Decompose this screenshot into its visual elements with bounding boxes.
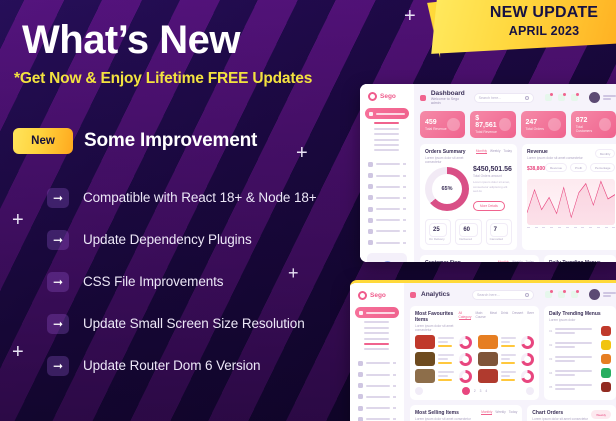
stat-value: $ 87,561 (475, 115, 499, 129)
chart-icon (358, 372, 363, 377)
food-thumbnail (415, 369, 435, 383)
list-item: ➞ Compatible with React 18+ & Node 18+ (47, 182, 357, 213)
subnav-item[interactable] (364, 332, 389, 334)
food-thumbnail (415, 335, 435, 349)
sidebar-item-plugins[interactable] (365, 192, 409, 203)
box-icon (548, 118, 561, 131)
category-main-course[interactable]: Main Course (475, 311, 485, 320)
tab-today[interactable]: Today (509, 410, 518, 415)
tab-monthly[interactable]: Monthly (481, 410, 492, 415)
mail-icon[interactable] (558, 291, 565, 298)
bell-icon[interactable] (545, 94, 552, 101)
card-subtitle: Lorem ipsum dolor sit amet consectetur (415, 324, 459, 332)
table-icon (368, 229, 373, 234)
revenue-x-axis (527, 227, 615, 228)
avatar-image (589, 289, 600, 300)
legend-percentage[interactable]: Percentage (590, 163, 615, 172)
tab-weekly[interactable]: Weekly (495, 410, 505, 415)
cart-icon (447, 118, 460, 131)
search-placeholder: Search here... (479, 96, 502, 100)
revenue-line-chart (527, 179, 615, 225)
page-subtitle: Welcome to Sego admin (431, 97, 469, 105)
list-item[interactable]: 05 (549, 382, 611, 392)
mini-stat-value: 60 (459, 223, 477, 237)
food-item[interactable] (478, 352, 535, 366)
arrow-right-icon: ➞ (47, 314, 69, 334)
search-icon (525, 293, 529, 297)
plugin-icon (368, 195, 373, 200)
sidebar-item-label (366, 312, 395, 314)
list-item[interactable]: 04 (549, 368, 611, 378)
sidebar-promo-card (367, 253, 407, 262)
mail-icon[interactable] (558, 94, 565, 101)
category-all[interactable]: All Category (459, 311, 472, 320)
sidebar-item-forms[interactable] (365, 215, 409, 226)
chevron-right-icon (393, 362, 396, 364)
dollar-icon (499, 118, 510, 131)
sidebar-item-pages[interactable] (365, 237, 409, 248)
stat-card: 247 Total Orders (521, 111, 566, 138)
list-item-label: CSS File Improvements (83, 274, 223, 289)
revenue-legend: Revenue Profit Percentage (545, 163, 615, 172)
food-item[interactable] (415, 369, 472, 383)
avatar[interactable] (589, 289, 616, 300)
dashboard-screenshot-preview: Sego (360, 84, 616, 262)
sidebar-item-charts[interactable] (365, 170, 409, 181)
food-thumbnail (478, 352, 498, 366)
bootstrap-icon (358, 383, 363, 388)
revenue-chart-svg (527, 179, 615, 225)
dashboard-icon (369, 112, 373, 116)
food-thumbnail (415, 352, 435, 366)
subnav-item[interactable] (374, 149, 399, 151)
dashboard-topbar: Dashboard Welcome to Sego admin Search h… (420, 90, 616, 105)
subnav-item[interactable] (374, 122, 399, 124)
bootstrap-icon (368, 184, 373, 189)
chevron-right-icon (403, 230, 406, 232)
notification-group (545, 94, 578, 101)
card-title: Daily Trending Menus (549, 311, 611, 317)
orders-summary-card: Orders Summary Lorem ipsum dolor sit ame… (420, 144, 517, 250)
progress-ring (459, 336, 472, 349)
item-rank: 05 (549, 385, 552, 389)
arrow-right-icon: ➞ (47, 188, 69, 208)
page-title: Analytics (421, 291, 450, 298)
card-title: Revenue (527, 149, 583, 155)
item-thumbnail (601, 326, 611, 336)
avatar[interactable] (589, 92, 616, 103)
orders-amount-label: Total Orders amount (473, 174, 512, 178)
new-badge: New (13, 128, 73, 154)
food-item[interactable] (478, 335, 535, 349)
chevron-right-icon (393, 396, 396, 398)
favourite-items-card: Most Favourites Items Lorem ipsum dolor … (410, 306, 539, 400)
chevron-right-icon (403, 163, 406, 165)
sidebar-item-bootstrap[interactable] (355, 380, 399, 391)
stat-value: 247 (526, 119, 544, 126)
bell-icon[interactable] (545, 291, 552, 298)
sidebar-item-bootstrap[interactable] (365, 181, 409, 192)
category-beer[interactable]: Beer (527, 311, 534, 320)
page-icon (420, 95, 426, 101)
mini-stat-label: Cancelled (490, 237, 508, 241)
progress-ring (521, 353, 534, 366)
subnav-item[interactable] (374, 139, 399, 141)
chevron-right-icon (393, 374, 396, 376)
chart-orders-dropdown[interactable]: Weekly (591, 410, 611, 419)
cart-icon[interactable] (571, 94, 578, 101)
dashboard-icon (359, 311, 363, 315)
tab-today[interactable]: Today (525, 260, 534, 262)
sidebar-item-dashboard[interactable] (355, 307, 399, 318)
chart-orders-card: Chart Orders Lorem ipsum dolor sit amet … (527, 405, 616, 421)
trending-menus-card: Daily Trending Menus Lorem ipsum dolor 0… (544, 255, 616, 262)
progress-ring (459, 370, 472, 383)
more-details-button[interactable]: More Details (473, 201, 505, 211)
subnav-item[interactable] (374, 144, 399, 146)
banner-date: APRIL 2023 (464, 24, 616, 38)
stat-label: Total Customers (576, 125, 599, 133)
logo-icon (358, 291, 367, 300)
subnav-item[interactable] (364, 321, 389, 323)
arrow-right-icon: ➞ (47, 356, 69, 376)
orders-amount-note: Lorem ipsum dolor sit amet, consectetur … (473, 180, 512, 194)
item-rank: 03 (549, 357, 552, 361)
pagination-page-2[interactable]: 2 (474, 389, 476, 393)
sidebar-item-dashboard[interactable] (365, 108, 409, 119)
stat-label: Total Revenue (475, 130, 499, 134)
list-item: ➞ Update Small Screen Size Resolution (47, 308, 357, 339)
card-title: Chart Orders (532, 410, 588, 416)
chevron-right-icon (403, 186, 406, 188)
tab-today[interactable]: Today (503, 149, 512, 154)
user-icon (599, 118, 611, 131)
subnav-item[interactable] (364, 338, 389, 340)
sidebar-item-label (376, 113, 405, 115)
stat-card: 459 Total Revenue (420, 111, 465, 138)
item-rank: 01 (549, 329, 552, 333)
chevron-right-icon (403, 197, 406, 199)
widget-icon (358, 406, 363, 411)
orders-mini-stats: 25On Delivery 60Delivered 7Cancelled (425, 219, 512, 245)
customer-stop-card: Customer Stop Lorem ipsum dolor sit amet… (420, 255, 539, 262)
subnav-item[interactable] (374, 133, 399, 135)
form-icon (358, 417, 363, 421)
category-filter-group: All Category Main Course Meat Drink Dess… (459, 311, 534, 320)
category-dessert[interactable]: Dessert (512, 311, 523, 320)
list-item: ➞ CSS File Improvements (47, 266, 357, 297)
mini-stat: 25On Delivery (425, 219, 451, 245)
card-subtitle: Lorem ipsum dolor sit amet consectetur (532, 417, 588, 421)
card-title: Daily Trending Menus (549, 260, 611, 262)
card-title: Most Favourites Items (415, 311, 459, 323)
card-title: Customer Stop (425, 260, 481, 262)
promo-illustration-icon (382, 261, 393, 262)
stat-value: 459 (425, 119, 447, 126)
widget-icon (368, 207, 373, 212)
list-item: ➞ Update Dependency Plugins (47, 224, 357, 255)
pages-icon (368, 240, 373, 245)
search-icon (525, 96, 529, 100)
pagination-page-4[interactable]: 4 (485, 389, 487, 393)
card-title: Orders Summary (425, 149, 476, 155)
pagination-page-1[interactable] (462, 387, 470, 395)
promo-banner-page: + + + + + NEW UPDATE APRIL 2023 What’s N… (0, 0, 616, 421)
card-subtitle: Lorem ipsum dolor (549, 318, 611, 322)
stat-label: Total Orders (526, 127, 544, 131)
analytics-topbar: Analytics Search here... (410, 289, 616, 300)
plus-decoration-icon: + (404, 6, 416, 26)
item-thumbnail (601, 382, 611, 392)
sidebar-item-plugins[interactable] (355, 391, 399, 402)
page-subtitle: *Get Now & Enjoy Lifetime FREE Updates (14, 70, 312, 88)
item-rank: 02 (549, 343, 552, 347)
dashboard-panels: Orders Summary Lorem ipsum dolor sit ame… (420, 144, 616, 250)
food-thumbnail (478, 369, 498, 383)
banner-text-group: NEW UPDATE APRIL 2023 (464, 4, 616, 38)
tab-monthly[interactable]: Monthly (498, 260, 509, 262)
plugin-icon (358, 394, 363, 399)
food-item[interactable] (415, 352, 472, 366)
brand-logo: Sego (368, 92, 409, 101)
card-subtitle: Lorem ipsum dolor sit amet consectetur (425, 156, 476, 164)
list-item-label: Update Router Dom 6 Version (83, 358, 260, 373)
food-item[interactable] (415, 335, 472, 349)
tab-monthly[interactable]: Monthly (476, 149, 487, 154)
analytics-main: Analytics Search here... (404, 283, 616, 421)
arrow-right-icon: ➞ (47, 230, 69, 250)
item-rank: 04 (549, 371, 552, 375)
search-placeholder: Search here... (477, 293, 500, 297)
mini-stat-label: On Delivery (429, 237, 447, 241)
brand-name: Sego (370, 292, 386, 299)
list-item[interactable]: 01 (549, 326, 611, 336)
food-grid (415, 332, 534, 383)
search-input[interactable]: Search here... (474, 93, 534, 103)
list-item[interactable]: 02 (549, 340, 611, 350)
sidebar-subnav (355, 321, 399, 357)
page-icon (410, 292, 416, 298)
mini-stat: 7Cancelled (486, 219, 512, 245)
notification-group (545, 291, 578, 298)
mini-stat-value: 7 (490, 223, 508, 237)
stat-card: 872 Total Customers (571, 111, 616, 138)
sidebar-item-widget[interactable] (355, 402, 399, 413)
brand-name: Sego (380, 93, 396, 100)
orders-tabs: Monthly Weekly Today (476, 149, 512, 154)
banner-title: NEW UPDATE (464, 4, 616, 22)
feature-list: ➞ Compatible with React 18+ & Node 18+ ➞… (47, 182, 357, 392)
selling-tabs: Monthly Weekly Today (481, 410, 517, 415)
sidebar-item-forms[interactable] (355, 414, 399, 421)
subnav-item[interactable] (364, 327, 389, 329)
stat-card-group: 459 Total Revenue $ 87,561 Total Revenue… (420, 111, 616, 138)
revenue-card: Revenue Lorem ipsum dolor sit amet conse… (522, 144, 616, 250)
sidebar-item-widget[interactable] (365, 203, 409, 214)
logo-icon (368, 92, 377, 101)
stat-value: 872 (576, 117, 599, 124)
list-item-label: Update Small Screen Size Resolution (83, 316, 305, 331)
item-thumbnail (601, 354, 611, 364)
mini-stat-value: 25 (429, 223, 447, 237)
most-selling-card: Most Selling Items Lorem ipsum dolor sit… (410, 405, 522, 421)
form-icon (368, 218, 373, 223)
progress-ring (521, 336, 534, 349)
stat-label: Total Revenue (425, 127, 447, 131)
food-item[interactable] (478, 369, 535, 383)
chevron-right-icon (403, 175, 406, 177)
mini-stat-label: Delivered (459, 237, 477, 241)
card-subtitle: Lorem ipsum dolor sit amet consectetur (415, 417, 471, 421)
sidebar-subnav (365, 122, 409, 158)
list-item-label: Update Dependency Plugins (83, 232, 252, 247)
revenue-dropdown[interactable]: Monthly (595, 149, 616, 158)
legend-revenue[interactable]: Revenue (545, 163, 567, 172)
sidebar-item-charts[interactable] (355, 369, 399, 380)
food-thumbnail (478, 335, 498, 349)
dashboard-main: Dashboard Welcome to Sego admin Search h… (414, 84, 616, 262)
card-subtitle: Lorem ipsum dolor sit amet consectetur (527, 156, 583, 160)
revenue-amount: $38,800 (527, 166, 545, 172)
orders-amount: $450,501.56 (473, 166, 512, 173)
customer-tabs: Monthly Weekly Today (498, 260, 534, 262)
avatar-image (589, 92, 600, 103)
search-input[interactable]: Search here... (472, 290, 534, 300)
pagination-page-3[interactable]: 3 (480, 389, 482, 393)
section-heading: Some Improvement (84, 128, 257, 154)
page-title: Dashboard (431, 90, 469, 97)
chart-icon (368, 173, 373, 178)
category-drink[interactable]: Drink (501, 311, 508, 320)
analytics-sidebar: Sego (350, 283, 404, 421)
brand-logo: Sego (358, 291, 399, 300)
analytics-screenshot-preview: Sego (350, 280, 616, 421)
chevron-right-icon (393, 418, 396, 420)
new-update-banner: NEW UPDATE APRIL 2023 (416, 0, 616, 62)
subnav-item[interactable] (364, 343, 389, 345)
list-item: ➞ Update Router Dom 6 Version (47, 350, 357, 381)
subnav-item[interactable] (364, 348, 389, 350)
stat-card: $ 87,561 Total Revenue (470, 111, 515, 138)
category-meat[interactable]: Meat (490, 311, 497, 320)
mini-stat: 60Delivered (455, 219, 481, 245)
item-thumbnail (601, 368, 611, 378)
card-title: Most Selling Items (415, 410, 471, 416)
arrow-right-icon: ➞ (47, 272, 69, 292)
dashboard-sidebar: Sego (360, 84, 414, 262)
chevron-right-icon (403, 208, 406, 210)
subnav-item[interactable] (374, 128, 399, 130)
gauge-value: 65% (425, 167, 469, 211)
page-title: What’s New (22, 18, 240, 63)
pagination-prev[interactable] (415, 387, 423, 395)
tab-weekly[interactable]: Weekly (490, 149, 500, 154)
item-thumbnail (601, 340, 611, 350)
pagination-next[interactable] (526, 387, 534, 395)
sidebar-item-table[interactable] (365, 226, 409, 237)
left-content: What’s New *Get Now & Enjoy Lifetime FRE… (0, 0, 358, 421)
chevron-right-icon (393, 385, 396, 387)
sidebar-item-apps[interactable] (365, 159, 409, 170)
tab-weekly[interactable]: Weekly (512, 260, 522, 262)
pagination: 2 3 4 (415, 387, 534, 395)
progress-ring (459, 353, 472, 366)
list-item-label: Compatible with React 18+ & Node 18+ (83, 190, 317, 205)
legend-profit[interactable]: Profit (570, 163, 587, 172)
sidebar-item-apps[interactable] (355, 358, 399, 369)
apps-icon (368, 162, 373, 167)
apps-icon (358, 361, 363, 366)
orders-gauge-chart: 65% (425, 167, 469, 211)
cart-icon[interactable] (571, 291, 578, 298)
progress-ring (521, 370, 534, 383)
chevron-right-icon (403, 219, 406, 221)
list-item[interactable]: 03 (549, 354, 611, 364)
trending-menus-card: Daily Trending Menus Lorem ipsum dolor 0… (544, 306, 616, 400)
chevron-right-icon (393, 407, 396, 409)
chevron-right-icon (403, 242, 406, 244)
